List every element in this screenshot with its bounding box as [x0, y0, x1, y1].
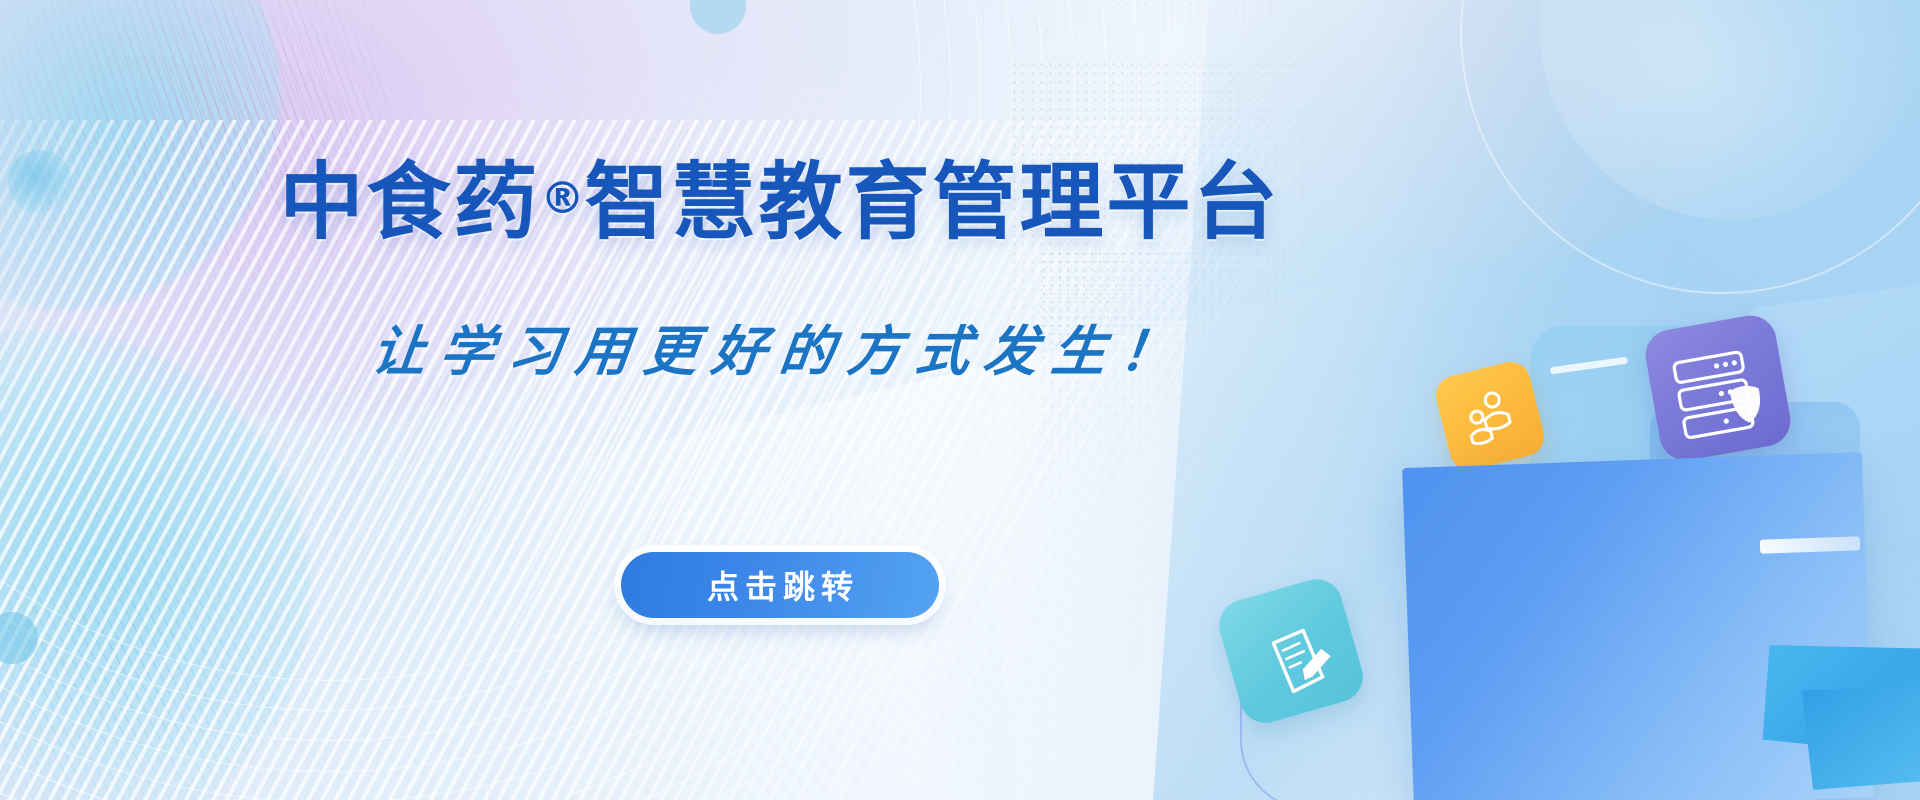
- page-title: 中食药®智慧教育管理平台: [0, 160, 1560, 244]
- page-subtitle: 让学习用更好的方式发生！: [0, 318, 1564, 386]
- title-suffix: 智慧教育管理平台: [585, 153, 1281, 251]
- cta-container: 点击跳转: [0, 552, 1560, 618]
- jump-button[interactable]: 点击跳转: [621, 552, 939, 618]
- registered-mark-icon: ®: [541, 173, 585, 224]
- hero-banner: 中食药®智慧教育管理平台 让学习用更好的方式发生！ 点击跳转: [0, 0, 1920, 800]
- title-brand: 中食药: [279, 153, 540, 251]
